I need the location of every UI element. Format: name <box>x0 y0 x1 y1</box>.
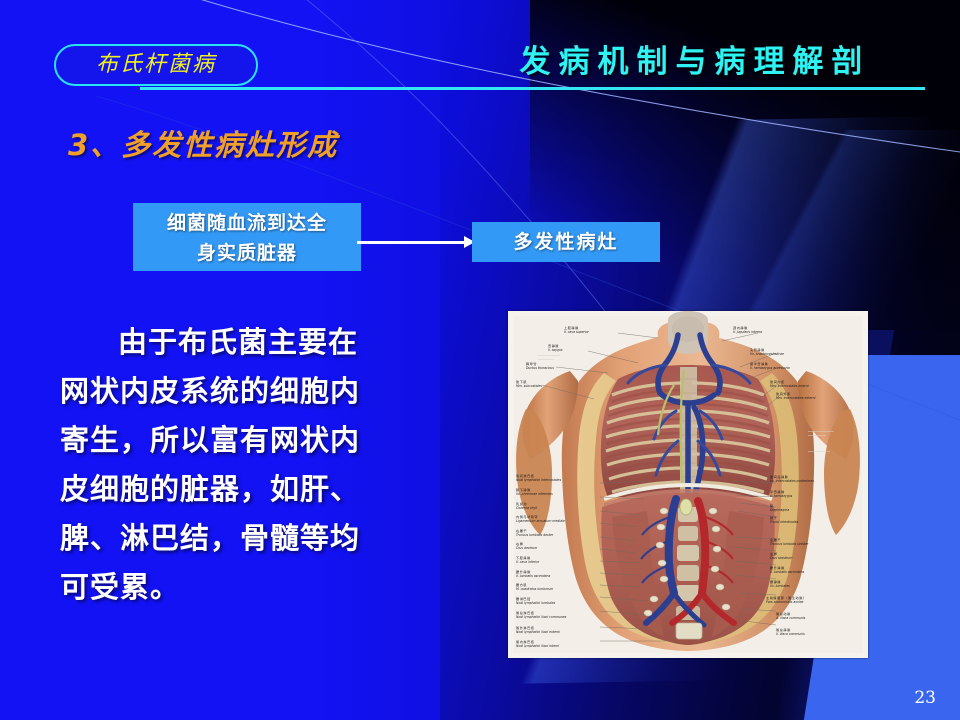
flow-box-source-line2: 身实质脏器 <box>197 242 297 264</box>
figure-label: 肋下肌 Mm. subcostales <box>516 381 542 388</box>
figure-label: 腰升静脉 V. lumbalis ascendens <box>770 567 804 574</box>
figure-label: 主动脉腹部（腹主动脉） Pars abdominalis aortae <box>766 597 807 604</box>
anatomy-figure: 上腔静脉 V. cava superior 奇静脉 V. azygos 胸导管 … <box>508 311 868 658</box>
figure-label: 副半奇静脉 V. hemiazygos accessoria <box>750 363 790 370</box>
figure-label: 髂总淋巴结 Nodi lymphatici iliaci communes <box>516 612 566 619</box>
figure-label: 髂外淋巴结 Nodi lymphatici iliaci externi <box>516 627 560 634</box>
figure-label: 膈 Diaphragma <box>770 505 789 512</box>
figure-label: 肋间内肌 Mm. intercostales interni <box>770 381 809 388</box>
figure-label: 肋间外肌 Mm. intercostales externi <box>776 393 815 400</box>
page-number: 23 <box>914 688 936 708</box>
body-line-6: 可受累。 <box>60 563 460 612</box>
figure-label: 半奇静脉 V. hemiazygos <box>770 491 792 498</box>
flow-box-target: 多发性病灶 <box>472 222 660 262</box>
figure-label: 腰方肌 M. quadratus lumborum <box>516 584 553 591</box>
figure-label: 肠干 Trunci intestinales <box>770 517 798 524</box>
slide-canvas: 布氏杆菌病 发病机制与病理解剖 3、多发性病灶形成 细菌随血流到达全 身实质脏器… <box>0 0 960 720</box>
figure-label: 头臂静脉 Vv. brachiocephalicae <box>750 349 784 356</box>
header-divider-rule <box>140 87 925 90</box>
figure-label: 腰升静脉 V. lumbalis ascendens <box>516 571 550 578</box>
figure-label: 左脚 Crus sinistrum <box>770 553 792 560</box>
anatomy-illustration <box>508 311 868 658</box>
figure-label: 上腔静脉 V. cava superior <box>564 327 589 334</box>
figure-label: 下腔静脉 V. cava inferior <box>516 557 539 564</box>
figure-label: 髂内淋巴结 Nodi lymphatici iliaci interni <box>516 641 559 648</box>
figure-label: 右腰干 Truncus lumbalis dexter <box>516 530 553 537</box>
flow-arrow-line <box>357 241 467 244</box>
figure-label: 髂总静脉 V. iliaca communis <box>776 629 805 636</box>
body-line-2: 网状内皮系统的细胞内 <box>60 367 460 416</box>
figure-label: 胸导管 Ductus thoracicus <box>526 363 554 370</box>
figure-label: 左腰干 Truncus lumbalis sinister <box>770 539 808 546</box>
figure-label: 腰淋巴结 Nodi lymphatici lumbales <box>516 598 555 605</box>
figure-label: 肋间后静脉 Vv. intercostales posteriores <box>770 476 814 483</box>
figure-label: 膈下静脉 Vv. phrenicae inferiores <box>516 489 553 496</box>
body-line-3: 寄生，所以富有网状内 <box>60 416 460 465</box>
topic-badge-label: 布氏杆菌病 <box>56 46 256 84</box>
body-line-1: 由于布氏菌主要在 <box>60 318 460 367</box>
figure-label: 乳糜池 Cisterna chyli <box>516 503 537 510</box>
section-heading: 3、多发性病灶形成 <box>68 122 338 164</box>
page-title: 发病机制与病理解剖 <box>480 36 910 81</box>
body-line-4: 皮细胞的脏器，如肝、 <box>60 465 460 514</box>
flow-box-source: 细菌随血流到达全 身实质脏器 <box>133 203 361 271</box>
body-line-5: 脾、淋巴结，骨髓等均 <box>60 514 460 563</box>
figure-label: 颈内静脉 V. jugularis interna <box>733 327 762 334</box>
figure-label: 奇静脉 V. azygos <box>548 345 563 352</box>
figure-label: 髂总动脉 A. iliaca communis <box>776 613 805 620</box>
figure-label: 内侧弓状韧带 Ligamentum arcuatum mediale <box>516 516 565 523</box>
body-paragraph: 由于布氏菌主要在 网状内皮系统的细胞内 寄生，所以富有网状内 皮细胞的脏器，如肝… <box>60 318 460 612</box>
figure-label: 肋间淋巴结 Nodi lymphatici intercostales <box>516 475 561 482</box>
flow-box-source-line1: 细菌随血流到达全 <box>167 212 327 234</box>
figure-label: 腰静脉 Vv. lumbales <box>770 581 790 588</box>
topic-badge: 布氏杆菌病 <box>54 44 258 86</box>
figure-label: 右脚 Crus dextrum <box>516 543 537 550</box>
